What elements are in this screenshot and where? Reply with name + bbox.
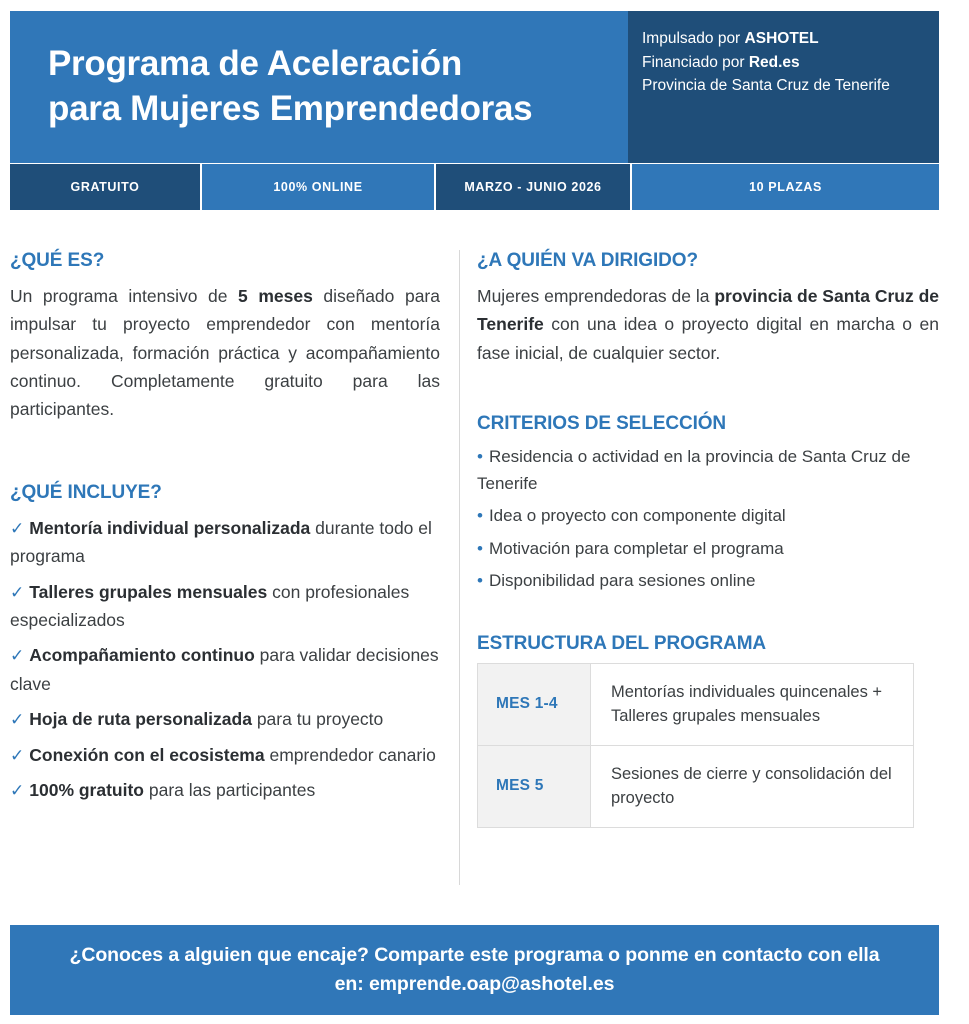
section-structure: ESTRUCTURA DEL PROGRAMA MES 1-4 Mentoría…	[477, 633, 939, 828]
badge-row: GRATUITO 100% ONLINE MARZO - JUNIO 2026 …	[10, 164, 939, 210]
list-item: •Idea o proyecto con componente digital	[477, 502, 939, 529]
spacer-left-1	[10, 424, 440, 482]
target-paragraph: Mujeres emprendedoras de la provincia de…	[477, 282, 939, 367]
list-item-rest: emprendedor canario	[265, 745, 436, 765]
section-includes: ¿QUÉ INCLUYE? ✓Mentoría individual perso…	[10, 482, 440, 805]
check-icon: ✓	[10, 746, 24, 765]
funder-line: Financiado por Red.es	[642, 51, 921, 75]
promoter-prefix: Impulsado por	[642, 30, 745, 47]
what-is-paragraph: Un programa intensivo de 5 meses diseñad…	[10, 282, 440, 424]
section-title-includes: ¿QUÉ INCLUYE?	[10, 482, 440, 504]
list-item-label: Idea o proyecto con componente digital	[489, 506, 786, 525]
section-title-target: ¿A QUIÉN VA DIRIGIDO?	[477, 250, 939, 272]
check-icon: ✓	[10, 710, 24, 729]
footer-cta-banner: ¿Conoces a alguien que encaje? Comparte …	[10, 925, 939, 1015]
bullet-icon: •	[477, 571, 483, 590]
bullet-icon: •	[477, 506, 483, 525]
list-item-bold: Conexión con el ecosistema	[29, 745, 264, 765]
what-is-text-2: diseñado para impulsar tu proyecto empre…	[10, 286, 440, 419]
table-row: MES 1-4 Mentorías individuales quincenal…	[478, 663, 914, 745]
list-item: •Motivación para completar el programa	[477, 535, 939, 562]
list-item: ✓Talleres grupales mensuales con profesi…	[10, 578, 440, 635]
section-target-audience: ¿A QUIÉN VA DIRIGIDO? Mujeres emprendedo…	[477, 250, 939, 367]
list-item: ✓Hoja de ruta personalizada para tu proy…	[10, 705, 440, 734]
promoter-line: Impulsado por ASHOTEL	[642, 27, 921, 51]
list-item-bold: 100% gratuito	[29, 780, 144, 800]
list-item-bold: Acompañamiento continuo	[29, 645, 255, 665]
page-title-line-1: Programa de Aceleración	[48, 42, 628, 87]
header-title-block: Programa de Aceleración para Mujeres Emp…	[10, 11, 628, 163]
table-cell-month: MES 5	[478, 745, 591, 827]
spacer-right-1	[477, 367, 939, 413]
badge-dates: MARZO - JUNIO 2026	[436, 164, 630, 210]
criteria-list: •Residencia o actividad en la provincia …	[477, 443, 939, 594]
list-item-rest: para tu proyecto	[252, 709, 383, 729]
list-item-bold: Talleres grupales mensuales	[29, 582, 267, 602]
footer-contact-email[interactable]: en: emprende.oap@ashotel.es	[70, 970, 880, 999]
bullet-icon: •	[477, 539, 483, 558]
list-item-bold: Hoja de ruta personalizada	[29, 709, 252, 729]
badge-gratuito: GRATUITO	[10, 164, 200, 210]
spacer-right-2	[477, 599, 939, 633]
program-structure-table: MES 1-4 Mentorías individuales quincenal…	[477, 663, 914, 828]
table-cell-detail: Mentorías individuales quincenales + Tal…	[591, 663, 914, 745]
poster-root: Programa de Aceleración para Mujeres Emp…	[0, 0, 969, 1024]
section-title-what-is: ¿QUÉ ES?	[10, 250, 440, 272]
header-banner: Programa de Aceleración para Mujeres Emp…	[10, 11, 939, 163]
funder-prefix: Financiado por	[642, 54, 749, 71]
list-item-rest: para las participantes	[144, 780, 315, 800]
footer-text-block: ¿Conoces a alguien que encaje? Comparte …	[70, 941, 880, 999]
list-item: ✓Mentoría individual personalizada duran…	[10, 514, 440, 571]
page-title-line-2: para Mujeres Emprendedoras	[48, 87, 628, 132]
funder-name: Red.es	[749, 54, 800, 71]
promoter-name: ASHOTEL	[745, 30, 819, 47]
list-item: ✓Conexión con el ecosistema emprendedor …	[10, 741, 440, 770]
includes-list: ✓Mentoría individual personalizada duran…	[10, 514, 440, 805]
table-cell-month: MES 1-4	[478, 663, 591, 745]
check-icon: ✓	[10, 519, 24, 538]
list-item: ✓100% gratuito para las participantes	[10, 776, 440, 805]
table-row: MES 5 Sesiones de cierre y consolidación…	[478, 745, 914, 827]
badge-plazas: 10 PLAZAS	[632, 164, 939, 210]
column-divider	[459, 250, 460, 885]
check-icon: ✓	[10, 583, 24, 602]
table-cell-detail: Sesiones de cierre y consolidación del p…	[591, 745, 914, 827]
list-item-label: Residencia o actividad en la provincia d…	[477, 447, 910, 493]
target-text-2: con una idea o proyecto digital en march…	[477, 314, 939, 362]
what-is-bold-1: 5 meses	[238, 286, 313, 306]
section-title-criteria: CRITERIOS DE SELECCIÓN	[477, 413, 939, 435]
section-criteria: CRITERIOS DE SELECCIÓN •Residencia o act…	[477, 413, 939, 594]
bullet-icon: •	[477, 447, 483, 466]
content-columns: ¿QUÉ ES? Un programa intensivo de 5 mese…	[0, 250, 969, 890]
check-icon: ✓	[10, 781, 24, 800]
badge-online: 100% ONLINE	[202, 164, 434, 210]
region-line: Provincia de Santa Cruz de Tenerife	[642, 74, 921, 98]
what-is-text-1: Un programa intensivo de	[10, 286, 238, 306]
header-meta-block: Impulsado por ASHOTEL Financiado por Red…	[628, 11, 939, 163]
section-what-is: ¿QUÉ ES? Un programa intensivo de 5 mese…	[10, 250, 440, 424]
check-icon: ✓	[10, 646, 24, 665]
list-item-label: Motivación para completar el programa	[489, 539, 784, 558]
left-column: ¿QUÉ ES? Un programa intensivo de 5 mese…	[10, 250, 440, 812]
list-item: ✓Acompañamiento continuo para validar de…	[10, 641, 440, 698]
list-item-bold: Mentoría individual personalizada	[29, 518, 310, 538]
section-title-structure: ESTRUCTURA DEL PROGRAMA	[477, 633, 939, 655]
list-item: •Residencia o actividad en la provincia …	[477, 443, 939, 497]
target-text-1: Mujeres emprendedoras de la	[477, 286, 714, 306]
list-item: •Disponibilidad para sesiones online	[477, 567, 939, 594]
list-item-label: Disponibilidad para sesiones online	[489, 571, 756, 590]
footer-line-1: ¿Conoces a alguien que encaje? Comparte …	[70, 941, 880, 970]
right-column: ¿A QUIÉN VA DIRIGIDO? Mujeres emprendedo…	[477, 250, 939, 828]
